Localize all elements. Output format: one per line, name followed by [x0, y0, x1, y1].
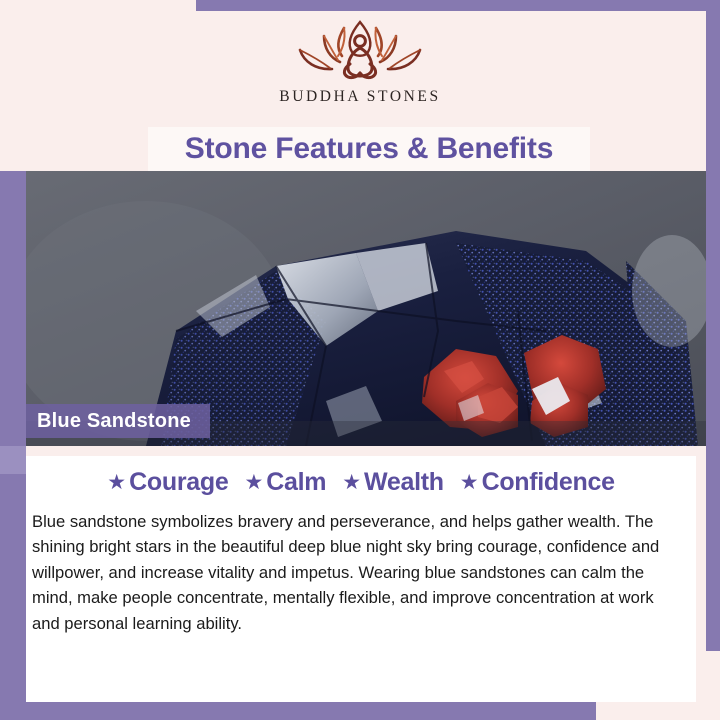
- content-top-strip: [26, 446, 720, 456]
- benefit-label: Courage: [129, 468, 228, 497]
- content-panel: ★ Courage ★ Calm ★ Wealth ★ Confidence B…: [26, 456, 696, 702]
- star-icon: ★: [342, 472, 361, 493]
- brand-logo: BUDDHA STONES: [0, 14, 720, 106]
- description-text: Blue sandstone symbolizes bravery and pe…: [32, 509, 684, 636]
- star-icon: ★: [460, 472, 479, 493]
- benefit-label: Wealth: [364, 468, 444, 497]
- benefit-label: Confidence: [482, 468, 615, 497]
- frame-border-top: [196, 0, 720, 11]
- product-feature-poster: BUDDHA STONES: [0, 0, 720, 720]
- frame-border-left-highlight: [0, 446, 26, 474]
- photo-caption-badge: Blue Sandstone: [26, 404, 210, 438]
- frame-border-right: [706, 0, 720, 651]
- brand-wordmark: BUDDHA STONES: [0, 88, 720, 106]
- photo-caption-text: Blue Sandstone: [26, 410, 191, 433]
- benefit-item: ★ Calm: [244, 468, 326, 497]
- benefit-item: ★ Confidence: [460, 468, 615, 497]
- benefits-row: ★ Courage ★ Calm ★ Wealth ★ Confidence: [26, 456, 696, 497]
- benefit-item: ★ Courage: [107, 468, 228, 497]
- benefit-item: ★ Wealth: [342, 468, 444, 497]
- benefit-label: Calm: [266, 468, 326, 497]
- lotus-meditation-icon: [280, 14, 440, 86]
- page-title: Stone Features & Benefits: [185, 132, 553, 166]
- frame-border-bottom: [0, 702, 596, 720]
- title-banner: Stone Features & Benefits: [148, 127, 590, 171]
- star-icon: ★: [244, 472, 263, 493]
- star-icon: ★: [107, 472, 126, 493]
